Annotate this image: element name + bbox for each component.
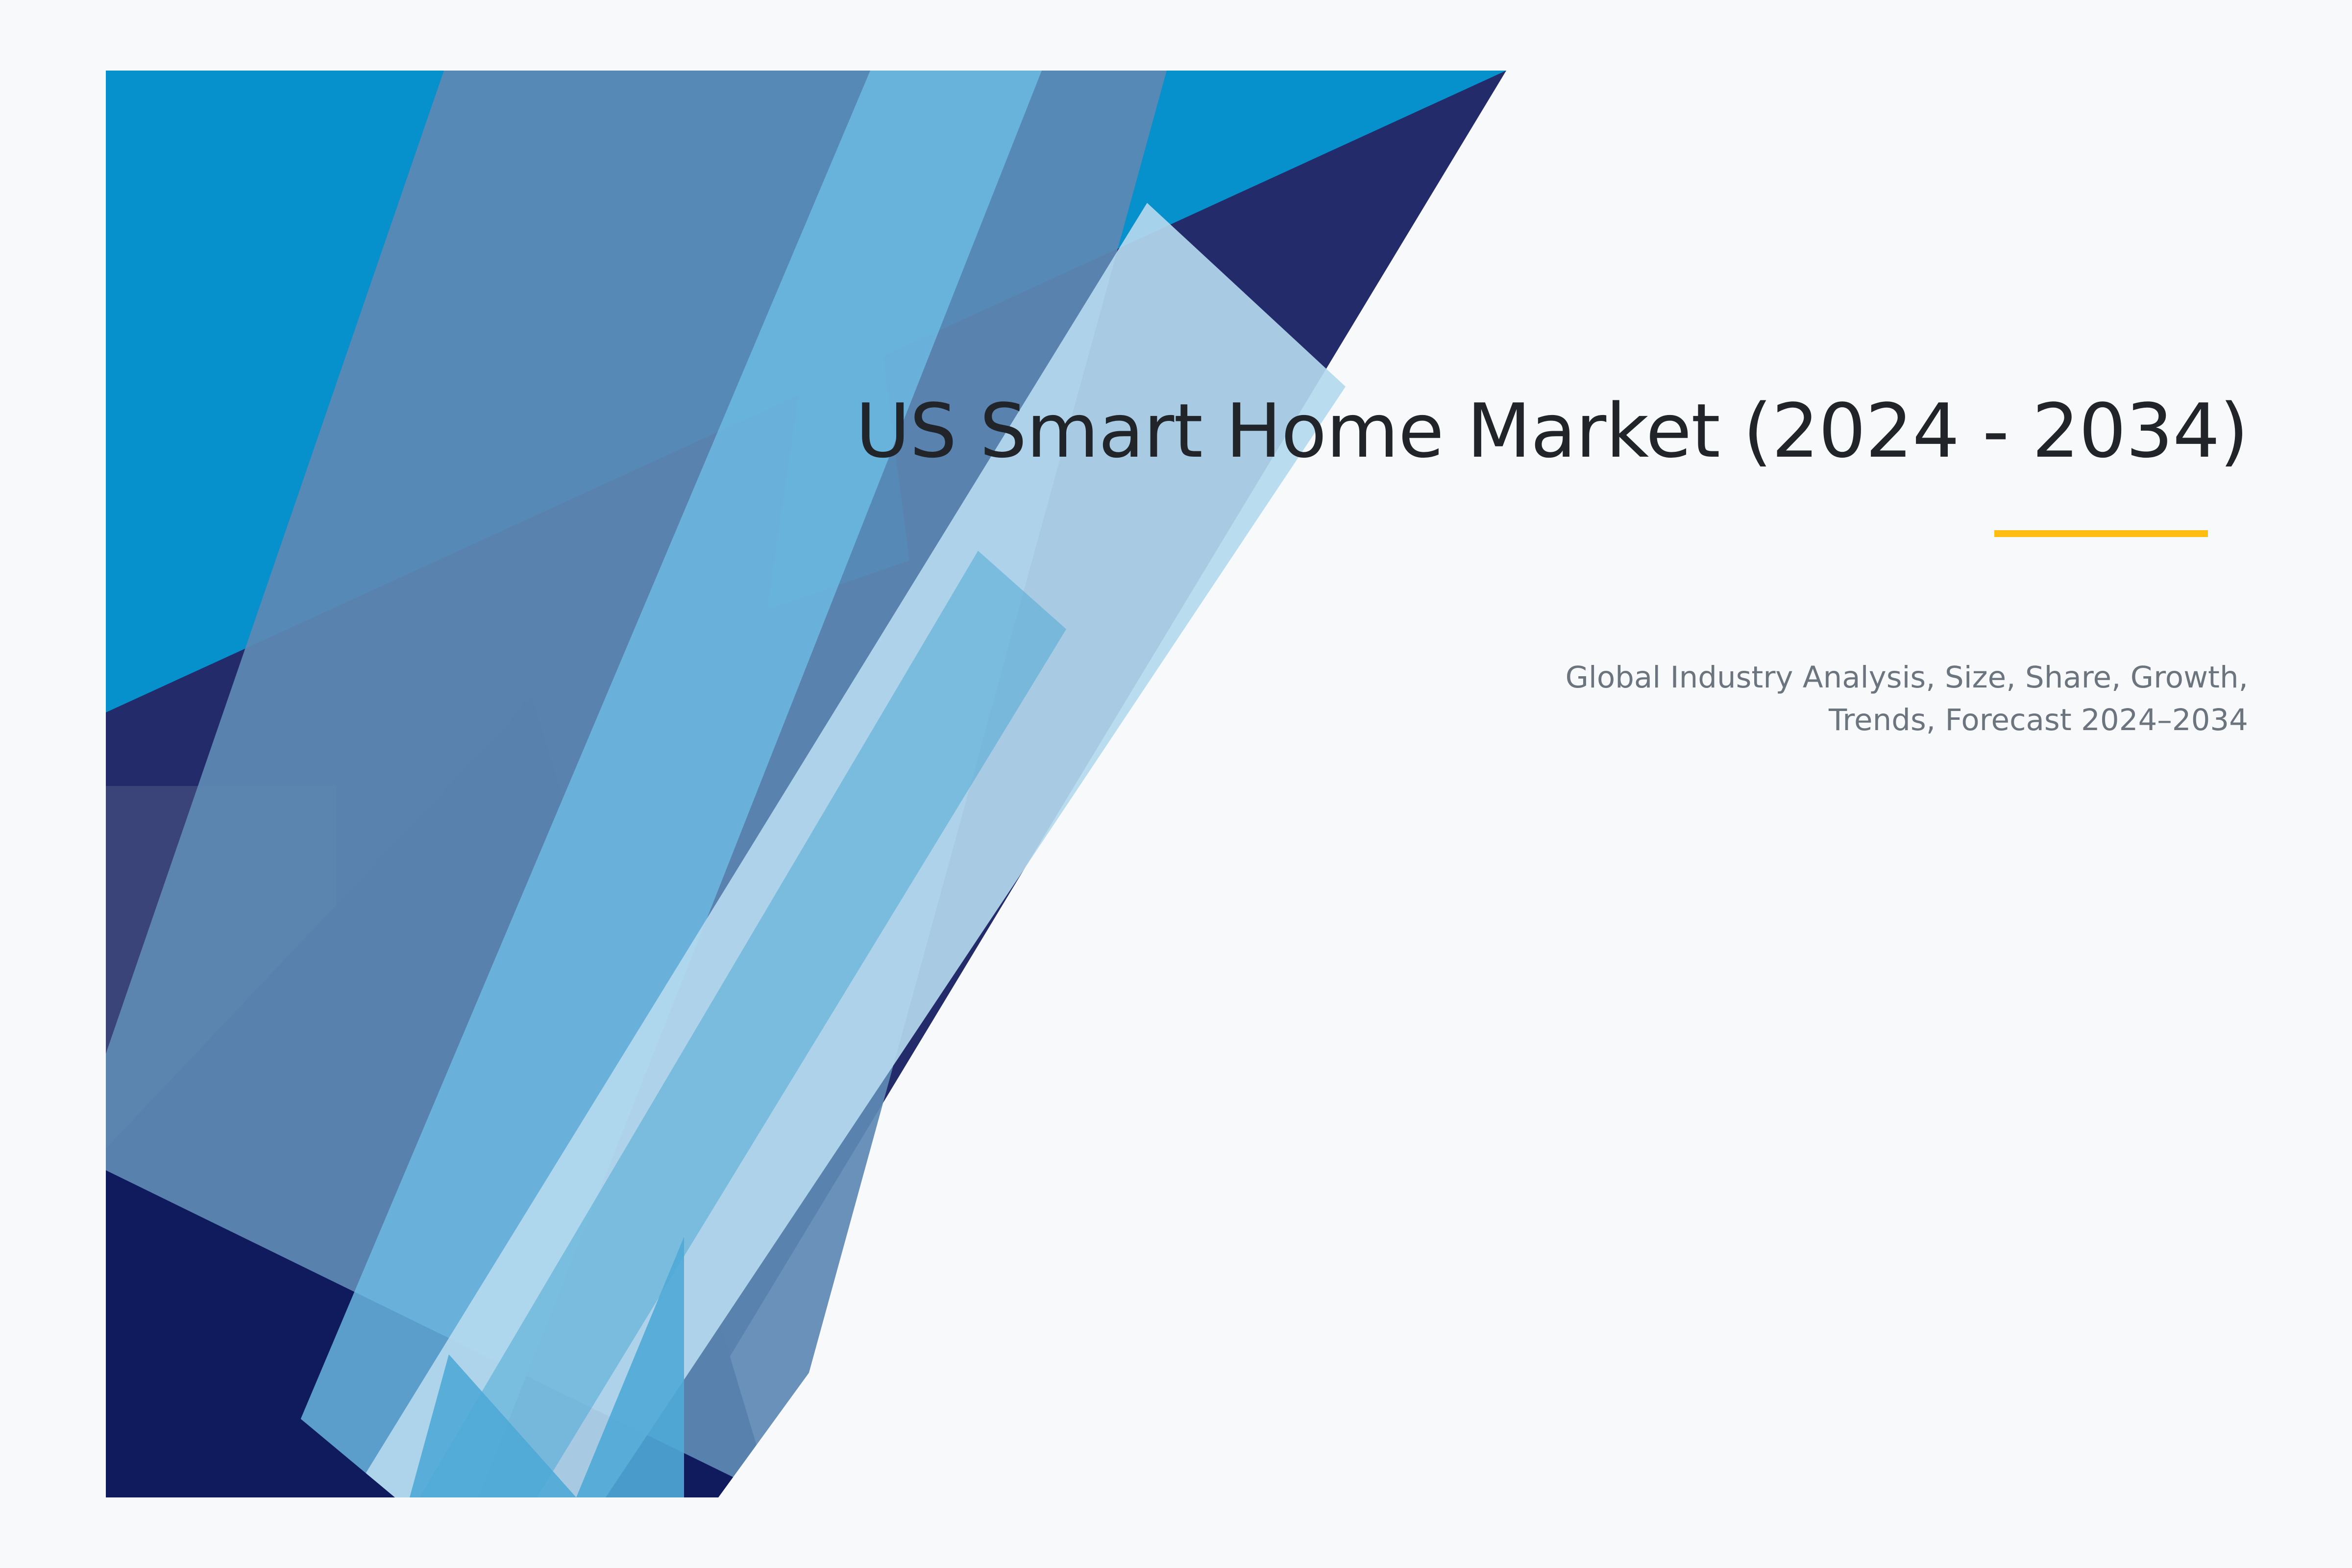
page-subtitle: Global Industry Analysis, Size, Share, G… xyxy=(1562,657,2248,741)
abstract-geometric-artwork xyxy=(106,71,1506,1497)
page-title: US Smart Home Market (2024 - 2034) xyxy=(856,390,2248,473)
accent-bar xyxy=(1994,530,2208,537)
report-cover-page: US Smart Home Market (2024 - 2034) Globa… xyxy=(0,0,2352,1568)
artwork-svg xyxy=(106,71,1506,1497)
